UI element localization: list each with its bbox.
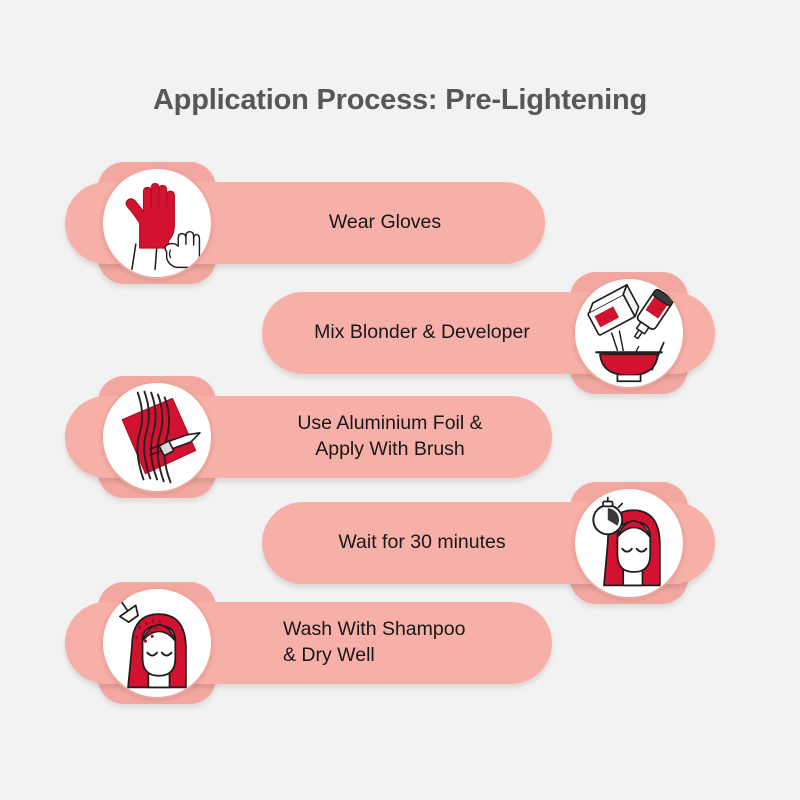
glove-icon	[101, 167, 213, 279]
step-row-5: Wash With Shampoo & Dry Well	[0, 578, 800, 708]
step-4-label: Wait for 30 minutes	[262, 502, 582, 584]
step-2-label: Mix Blonder & Developer	[262, 292, 582, 374]
step-3-label: Use Aluminium Foil & Apply With Brush	[228, 396, 552, 478]
foil-brush-icon	[101, 381, 213, 493]
step-5-label: Wash With Shampoo & Dry Well	[283, 602, 563, 684]
page-title: Application Process: Pre-Lightening	[0, 84, 800, 117]
mixing-bowl-icon	[573, 277, 685, 389]
shower-woman-icon	[101, 587, 213, 699]
timer-woman-icon	[573, 487, 685, 599]
step-1-label: Wear Gloves	[225, 182, 545, 264]
infographic-canvas: Application Process: Pre-Lightening Wear…	[0, 0, 800, 800]
